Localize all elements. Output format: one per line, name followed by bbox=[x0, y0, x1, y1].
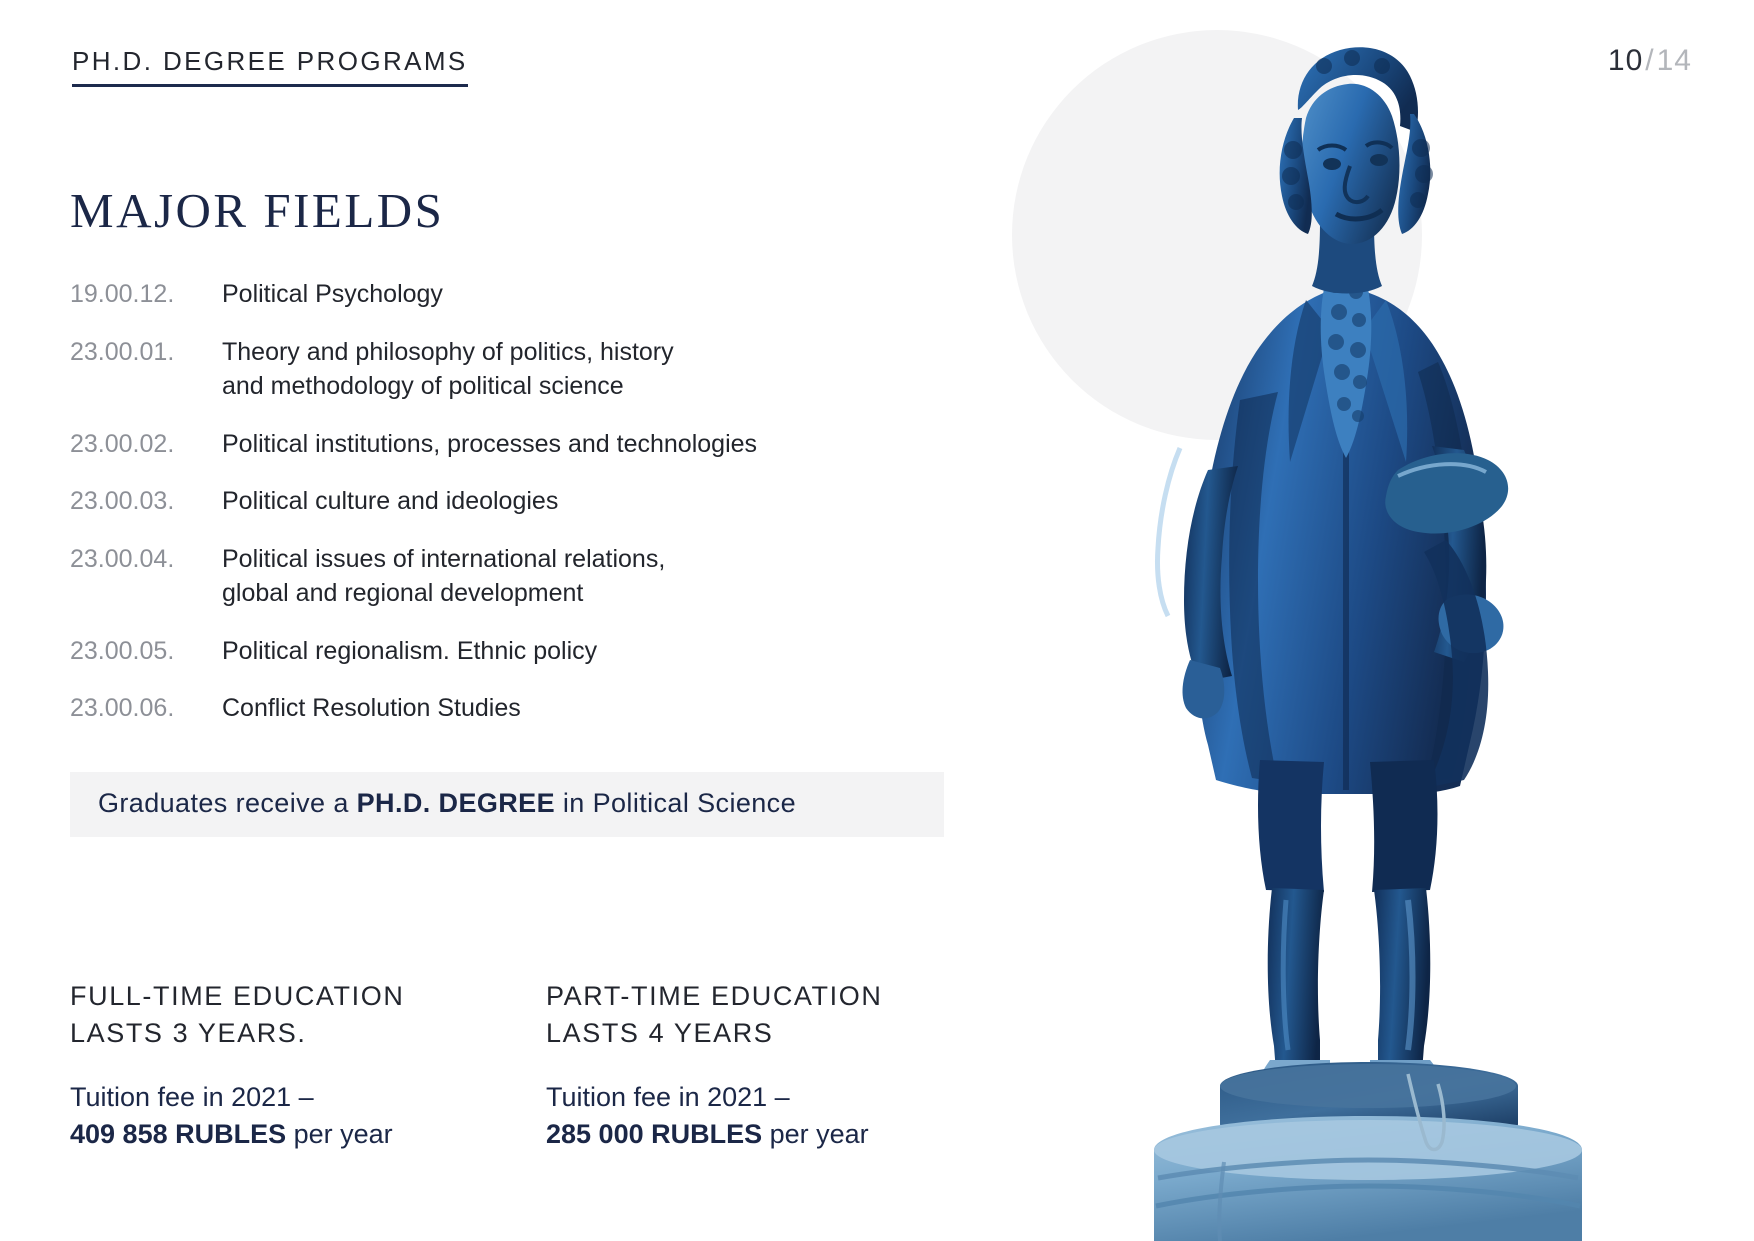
field-name-line1: Political institutions, processes and te… bbox=[222, 430, 757, 458]
field-name: Political culture and ideologies bbox=[222, 484, 960, 519]
field-name: Political issues of international relati… bbox=[222, 542, 960, 611]
list-item: 23.00.05. Political regionalism. Ethnic … bbox=[70, 634, 960, 669]
part-time-heading: PART-TIME EDUCATION LASTS 4 YEARS bbox=[546, 978, 960, 1053]
quill-feather bbox=[1157, 448, 1180, 616]
field-name: Political Psychology bbox=[222, 277, 960, 312]
degree-highlight-banner: Graduates receive a PH.D. DEGREE in Poli… bbox=[70, 772, 944, 838]
part-time-heading-line1: PART-TIME EDUCATION bbox=[546, 981, 882, 1011]
list-item: 23.00.04. Political issues of internatio… bbox=[70, 542, 960, 611]
page-title: MAJOR FIELDS bbox=[70, 186, 960, 235]
part-time-tuition-amount: 285 000 RUBLES bbox=[546, 1119, 762, 1149]
field-code: 23.00.01. bbox=[70, 335, 222, 370]
field-name: Conflict Resolution Studies bbox=[222, 691, 960, 726]
statue-breeches-right bbox=[1370, 760, 1437, 892]
statue-left-hand bbox=[1183, 660, 1225, 718]
field-name-line1: Conflict Resolution Studies bbox=[222, 694, 521, 722]
list-item: 19.00.12. Political Psychology bbox=[70, 277, 960, 312]
banner-suffix: in Political Science bbox=[555, 788, 796, 818]
full-time-column: FULL-TIME EDUCATION LASTS 3 YEARS. Tuiti… bbox=[70, 978, 546, 1154]
part-time-tuition-period: per year bbox=[762, 1119, 869, 1149]
field-name-line2: and methodology of political science bbox=[222, 369, 960, 404]
field-code: 23.00.03. bbox=[70, 484, 222, 519]
main-content: MAJOR FIELDS 19.00.12. Political Psychol… bbox=[70, 186, 960, 837]
major-fields-list: 19.00.12. Political Psychology 23.00.01.… bbox=[70, 277, 960, 726]
field-name-line1: Political culture and ideologies bbox=[222, 487, 558, 515]
full-time-heading: FULL-TIME EDUCATION LASTS 3 YEARS. bbox=[70, 978, 546, 1053]
field-code: 23.00.06. bbox=[70, 691, 222, 726]
field-code: 23.00.05. bbox=[70, 634, 222, 669]
statue-leg-left bbox=[1268, 888, 1324, 1072]
list-item: 23.00.01. Theory and philosophy of polit… bbox=[70, 335, 960, 404]
eye-right bbox=[1370, 154, 1388, 166]
field-name-line1: Political regionalism. Ethnic policy bbox=[222, 637, 597, 665]
field-code: 23.00.04. bbox=[70, 542, 222, 577]
banner-prefix: Graduates receive a bbox=[98, 788, 357, 818]
field-name: Political regionalism. Ethnic policy bbox=[222, 634, 960, 669]
list-item: 23.00.02. Political institutions, proces… bbox=[70, 427, 960, 462]
field-name: Theory and philosophy of politics, histo… bbox=[222, 335, 960, 404]
statue-artwork bbox=[994, 0, 1754, 1241]
field-code: 19.00.12. bbox=[70, 277, 222, 312]
field-name-line1: Political issues of international relati… bbox=[222, 545, 665, 573]
field-code: 23.00.02. bbox=[70, 427, 222, 462]
education-formats: FULL-TIME EDUCATION LASTS 3 YEARS. Tuiti… bbox=[70, 978, 960, 1154]
full-time-tuition-period: per year bbox=[286, 1119, 393, 1149]
field-name-line1: Political Psychology bbox=[222, 280, 443, 308]
list-item: 23.00.06. Conflict Resolution Studies bbox=[70, 691, 960, 726]
part-time-column: PART-TIME EDUCATION LASTS 4 YEARS Tuitio… bbox=[546, 978, 960, 1154]
field-name: Political institutions, processes and te… bbox=[222, 427, 960, 462]
part-time-heading-line2: LASTS 4 YEARS bbox=[546, 1015, 960, 1052]
statue-leg-right bbox=[1374, 888, 1430, 1072]
statue-breeches-left bbox=[1258, 760, 1324, 892]
part-time-tuition-value: 285 000 RUBLES per year bbox=[546, 1116, 960, 1154]
list-item: 23.00.03. Political culture and ideologi… bbox=[70, 484, 960, 519]
full-time-tuition-label: Tuition fee in 2021 – bbox=[70, 1082, 314, 1112]
full-time-heading-line2: LASTS 3 YEARS. bbox=[70, 1015, 546, 1052]
full-time-tuition-amount: 409 858 RUBLES bbox=[70, 1119, 286, 1149]
banner-emphasis: PH.D. DEGREE bbox=[357, 788, 555, 818]
part-time-tuition: Tuition fee in 2021 – 285 000 RUBLES per… bbox=[546, 1079, 960, 1155]
field-name-line1: Theory and philosophy of politics, histo… bbox=[222, 338, 674, 366]
eye-left bbox=[1323, 158, 1341, 170]
full-time-heading-line1: FULL-TIME EDUCATION bbox=[70, 981, 404, 1011]
page-eyebrow-title: PH.D. DEGREE PROGRAMS bbox=[72, 48, 468, 87]
lomonosov-statue-photo bbox=[994, 0, 1754, 1241]
field-name-line2: global and regional development bbox=[222, 576, 960, 611]
part-time-tuition-label: Tuition fee in 2021 – bbox=[546, 1082, 790, 1112]
full-time-tuition-value: 409 858 RUBLES per year bbox=[70, 1116, 546, 1154]
pedestal-top-face bbox=[1220, 1064, 1516, 1108]
full-time-tuition: Tuition fee in 2021 – 409 858 RUBLES per… bbox=[70, 1079, 546, 1155]
degree-highlight-text: Graduates receive a PH.D. DEGREE in Poli… bbox=[98, 789, 916, 819]
